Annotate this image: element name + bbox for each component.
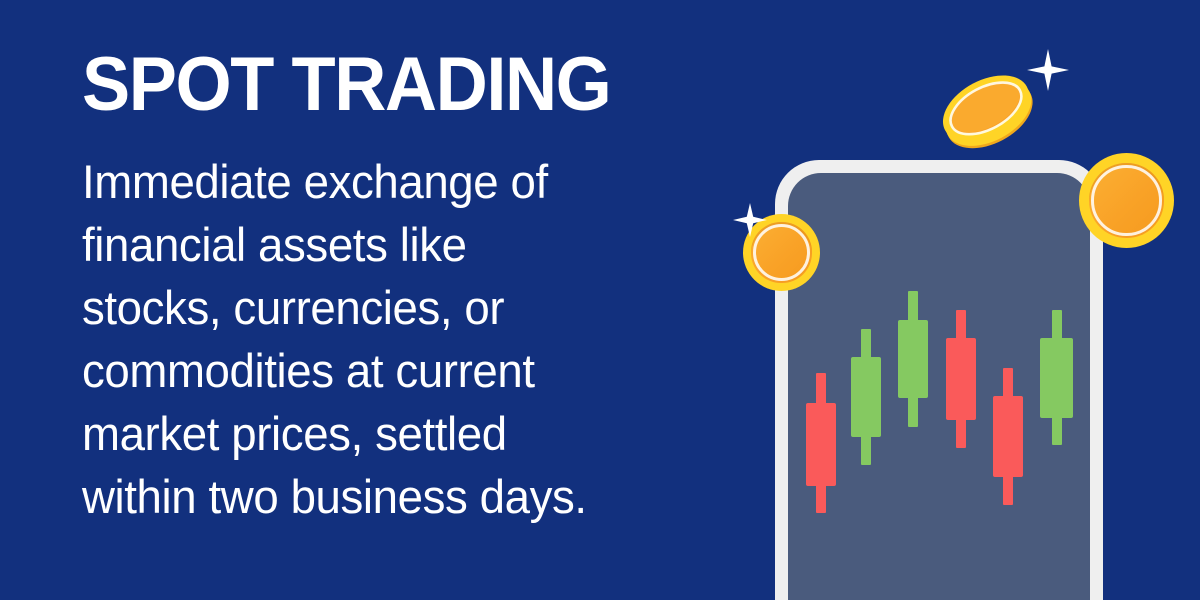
candlestick-1-body bbox=[806, 403, 836, 486]
sparkle-icon-left bbox=[730, 200, 770, 240]
candlestick-3-body bbox=[898, 320, 928, 398]
candlestick-4 bbox=[946, 173, 976, 600]
phone-mockup bbox=[775, 160, 1103, 600]
coin-right-rim-highlight bbox=[1091, 165, 1161, 235]
candlestick-5 bbox=[993, 173, 1023, 600]
body-line-6: within two business days. bbox=[82, 465, 683, 528]
candlestick-4-body bbox=[946, 338, 976, 420]
candlestick-6 bbox=[1040, 173, 1073, 600]
body-description: Immediate exchange of financial assets l… bbox=[82, 124, 683, 528]
sparkle-icon-top bbox=[1025, 47, 1071, 93]
body-line-5: market prices, settled bbox=[82, 402, 683, 465]
candlestick-6-body bbox=[1040, 338, 1073, 418]
candlestick-2 bbox=[851, 173, 881, 600]
candlestick-2-body bbox=[851, 357, 881, 437]
page-title: SPOT TRADING bbox=[82, 46, 671, 124]
coin-right bbox=[1079, 153, 1174, 248]
candlestick-chart bbox=[788, 173, 1090, 600]
phone-screen bbox=[788, 173, 1090, 600]
body-line-2: financial assets like bbox=[82, 213, 683, 276]
text-column: SPOT TRADING Immediate exchange of finan… bbox=[82, 46, 702, 528]
candlestick-5-body bbox=[993, 396, 1023, 477]
body-line-3: stocks, currencies, or bbox=[82, 276, 683, 339]
infographic-canvas: SPOT TRADING Immediate exchange of finan… bbox=[0, 0, 1200, 600]
candlestick-3 bbox=[898, 173, 928, 600]
body-line-1: Immediate exchange of bbox=[82, 150, 683, 213]
body-line-4: commodities at current bbox=[82, 339, 683, 402]
